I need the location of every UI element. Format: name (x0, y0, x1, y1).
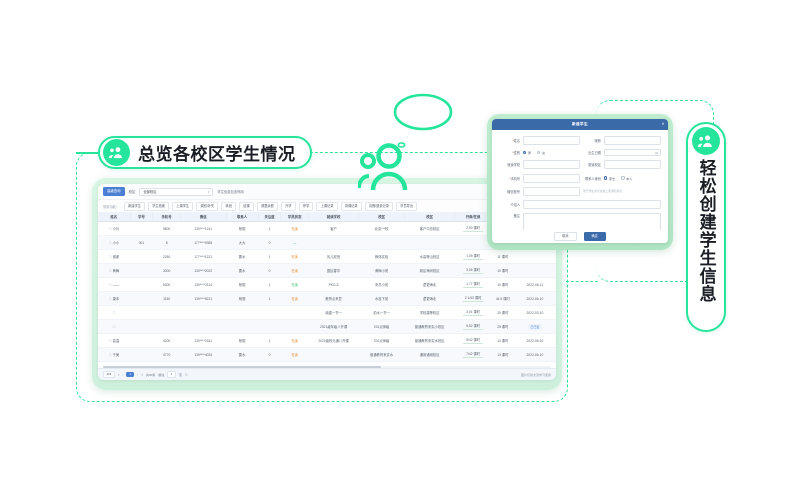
row-checkbox-icon[interactable]: ☐ (109, 353, 112, 357)
row-checkbox-icon[interactable]: ☐ (113, 311, 116, 315)
table-row[interactable]: ☐ 康本1150139****5221杨丽1在读教育点来意水准下苑逻更海北2 1… (98, 292, 556, 306)
right-banner-text: 轻松创建学生信息 (697, 159, 714, 303)
campus-filter-select[interactable]: 全部校区 ▾ (139, 188, 213, 196)
cell-wechat: 130****1241 (180, 222, 226, 236)
wechat-label: 微信账号 (499, 189, 520, 194)
cell-contact (226, 306, 258, 320)
cell-campus2: 客户中总校区 (404, 222, 454, 236)
cell-school: 2021级校元通八开课 (308, 334, 358, 348)
row-checkbox-icon[interactable]: ☐ (109, 283, 112, 287)
cell-phone: 2260 (153, 250, 180, 264)
page-size-select[interactable]: 20▾ (103, 371, 115, 379)
remark-label: 备注 (499, 213, 520, 218)
cell-wechat: 177****0365 (180, 236, 226, 250)
phone-label: *手机号 (499, 176, 520, 181)
cell-name: ☐ —— (98, 278, 130, 292)
cell-contact: 杨丽 (226, 292, 258, 306)
cell-follow (258, 306, 281, 320)
gender-label: *性别 (499, 150, 520, 155)
cell-status: 在读 (281, 334, 308, 348)
include-disabled-checkbox[interactable]: 学生信息包含停用 (217, 189, 243, 194)
identity-radio-parent[interactable]: 家长 (604, 176, 615, 181)
school-input[interactable] (523, 160, 580, 169)
cell-phone: 5800 (153, 222, 180, 236)
campus-label: 报读校区 (580, 162, 601, 167)
gender-radio-female[interactable]: 女 (537, 150, 545, 155)
cell-school: 客户 (308, 222, 358, 236)
wechat-input[interactable] (523, 187, 580, 196)
col-follow[interactable]: 关注度 (258, 212, 281, 222)
toolbar-button-transfer[interactable]: 转班 (221, 202, 236, 211)
cell-campus2: 逻更海北 (404, 292, 454, 306)
cell-balance: 13 课时 (491, 334, 514, 348)
contact-identity-radio-group[interactable]: 家长 本人 (604, 176, 661, 181)
cell-campus: 来苏小苑 (359, 278, 405, 292)
cell-campus: 201点师级 (359, 320, 405, 334)
toolbar-button-class-records[interactable]: 上课记录 (316, 202, 337, 211)
cell-campus2: 新区海河校区 (404, 264, 454, 278)
cell-school: 教育点来意 (308, 292, 358, 306)
two-people-silhouette-icon (358, 142, 412, 190)
cell-no (130, 320, 153, 334)
cell-name: ☐ (98, 306, 130, 320)
radio-dot-icon (523, 151, 526, 154)
cell-campus2: 普通教育来实小校区 (404, 320, 454, 334)
toolbar-button-export[interactable]: 学员导出 (396, 202, 417, 211)
cell-campus2: 通用通用校区 (404, 348, 454, 362)
col-wechat[interactable]: 微信 (180, 212, 226, 222)
toolbar-lead-label: 常用功能： (103, 204, 119, 209)
toolbar-button-schedule-records[interactable]: 排课记录 (341, 202, 362, 211)
cell-no (130, 306, 153, 320)
first-page-icon[interactable]: « (118, 373, 120, 377)
cell-amount: 5,02 课时 (455, 320, 492, 334)
row-checkbox-icon[interactable]: ☐ (109, 269, 112, 273)
col-campus[interactable]: 校区 (359, 212, 405, 222)
cell-balance: 25 课时 (491, 320, 514, 334)
name-label: *姓名 (499, 138, 520, 143)
cell-amount: 1,05 课时 (455, 250, 492, 264)
two-people-icon (692, 127, 720, 155)
cell-amount: 2 1/40 课时 (455, 292, 492, 306)
cell-follow: 0 (258, 236, 281, 250)
cell-balance: 20 课时 (491, 306, 514, 320)
col-contact[interactable]: 联系人 (226, 212, 258, 222)
birthday-input[interactable]: ▤ (604, 149, 661, 156)
create-student-dialog: 新建学生 ✕ *姓名 昵称 *性别 (492, 119, 668, 243)
toolbar-button-suspend[interactable]: 停学 (299, 202, 314, 211)
cell-status: — (281, 236, 308, 250)
cell-follow: 0 (258, 264, 281, 278)
cell-campus: 北京***校 (359, 222, 405, 236)
cell-no (130, 292, 153, 306)
cell-campus: 教体实验 (359, 250, 405, 264)
gender-radio-group[interactable]: 男 女 (523, 150, 580, 155)
current-page[interactable]: 1 (126, 372, 134, 378)
name-input[interactable] (523, 136, 580, 145)
dialog-footer: 取消 确定 (492, 230, 668, 243)
cell-status: 在读 (281, 278, 308, 292)
dialog-shell: 新建学生 ✕ *姓名 昵称 *性别 (487, 114, 673, 250)
thought-bubble-dot-icon (397, 135, 406, 141)
col-amount[interactable]: 行政/在读 (455, 212, 492, 222)
radio-dot-icon (537, 151, 540, 154)
cell-status: 在读 (281, 264, 308, 278)
cell-campus: 黄梅小苑 (359, 264, 405, 278)
row-checkbox-icon[interactable]: ☐ (109, 297, 112, 301)
cell-no (130, 348, 153, 362)
campus-filter-value: 全部校区 (143, 189, 156, 194)
row-checkbox-icon[interactable]: ☐ (109, 241, 112, 245)
confirm-button[interactable]: 确定 (584, 232, 606, 242)
cell-phone: 4770 (153, 348, 180, 362)
cell-amount: 7/42 课时 (455, 348, 492, 362)
cell-campus: 201点师级 (359, 334, 405, 348)
cell-school: 南重一节一 (308, 306, 358, 320)
cell-phone: 3000 (153, 264, 180, 278)
table-row[interactable]: ☐ 2021级年级八开课201点师级普通教育来实小校区5,02 课时25 课时已… (98, 320, 556, 334)
prev-page-icon[interactable]: ‹ (122, 373, 123, 377)
cell-amount: 1,77 课时 (455, 278, 492, 292)
cell-phone: 1150 (153, 292, 180, 306)
cell-follow: 0 (258, 348, 281, 362)
cell-school (308, 348, 358, 362)
wechat-hint: 用于学生家长接收上课通知消息 (583, 189, 622, 193)
dialog-form: *姓名 昵称 *性别 男 女 (492, 130, 668, 242)
table-row[interactable]: ☐ 南重一节一前水一节一学校建等校区3,01 课时20 课时2022-03-10 (98, 306, 556, 320)
col-no[interactable]: 学号 (130, 212, 153, 222)
cell-campus: 普通教育来实水 (359, 348, 405, 362)
cell-date: 2022-06-10 (514, 334, 555, 348)
cell-wechat: 139****5221 (180, 292, 226, 306)
cell-wechat: 130****2114 (180, 278, 226, 292)
left-banner-text: 总览各校区学生情况 (138, 140, 296, 165)
decorative-dashed-tail (566, 281, 598, 283)
refresh-icon[interactable]: ↻ (185, 373, 188, 377)
row-checkbox-icon[interactable]: ☐ (109, 339, 112, 343)
cell-status: 在读 (281, 292, 308, 306)
col-phone[interactable]: 手机号 (153, 212, 180, 222)
cell-amount: 3,05 课时 (455, 264, 492, 278)
cell-campus: 水准下苑 (359, 292, 405, 306)
cell-status: 在读 (281, 222, 308, 236)
thought-bubble-icon (392, 92, 454, 136)
cell-phone (153, 306, 180, 320)
toolbar-button-adjust-balance[interactable]: 调整余额 (257, 202, 278, 211)
calendar-icon: ▤ (655, 151, 658, 155)
cell-campus2 (404, 236, 454, 250)
col-school[interactable]: 就读学校 (308, 212, 358, 222)
chevron-down-icon: ▾ (208, 190, 210, 194)
toolbar-button-new-student[interactable]: 新建学生 (124, 202, 145, 211)
cell-status: 在读 (281, 250, 308, 264)
cell-date: 已已置 (514, 320, 555, 334)
toolbar-button-finish[interactable]: 结课 (239, 202, 254, 211)
gender-radio-male[interactable]: 男 (523, 150, 531, 155)
form-row-phone-source: *手机号 联系人身份 家长 本人 (499, 174, 661, 183)
cell-school: 园区春华 (308, 264, 358, 278)
advanced-search-button[interactable]: 高级查询 (103, 187, 125, 195)
birthday-label: 出生日期 (580, 150, 601, 155)
cell-wechat (180, 320, 226, 334)
row-checkbox-icon[interactable]: ☐ (109, 255, 112, 259)
cell-contact: 要水 (226, 250, 258, 264)
cell-contact: 杨丽 (226, 222, 258, 236)
cell-no (130, 222, 153, 236)
toolbar-button-promote[interactable]: 升学 (281, 202, 296, 211)
form-row-school-campus: 就读学校 报读校区 (499, 160, 661, 169)
cell-wechat: 130****2341 (180, 334, 226, 348)
cell-name: ☐ (98, 320, 130, 334)
cell-amount: 3,01 课时 (455, 306, 492, 320)
cell-date: 2022-03-10 (514, 306, 555, 320)
cell-wechat (180, 306, 226, 320)
cell-wechat: 139****4034 (180, 348, 226, 362)
cell-status (281, 320, 308, 334)
cell-amount: 5/42 课时 (455, 334, 492, 348)
cell-date: 2022-06-10 (514, 292, 555, 306)
col-name[interactable]: 姓名 (98, 212, 130, 222)
campus-filter-label: 校区 (129, 189, 136, 194)
cell-no (130, 278, 153, 292)
dialog-title-bar: 新建学生 ✕ (492, 119, 668, 130)
contact-identity-label: 联系人身份 (580, 176, 601, 181)
cell-follow: 1 (258, 292, 281, 306)
toolbar-button-student-file[interactable]: 学生档案 (148, 202, 169, 211)
cell-amount: 2,00 课时 (455, 222, 492, 236)
cell-contact: 杨丽 (226, 334, 258, 348)
form-row-gender-birthday: *性别 男 女 出生日期 ▤ (499, 149, 661, 156)
left-banner: 总览各校区学生情况 (98, 136, 312, 169)
toolbar-button-in-class[interactable]: 上课学生 (172, 202, 193, 211)
form-row-wechat: 微信账号 用于学生家长接收上课通知消息 (499, 187, 661, 196)
cell-wechat: 130****2022 (180, 264, 226, 278)
cell-phone: 8 (153, 236, 180, 250)
cell-school: 2021级年级八开课 (308, 320, 358, 334)
cell-no (130, 264, 153, 278)
row-checkbox-icon[interactable]: ☐ (113, 325, 116, 329)
cell-follow (258, 320, 281, 334)
form-row-name-nickname: *姓名 昵称 (499, 136, 661, 145)
jump-input[interactable]: 1 (167, 371, 175, 379)
cell-campus: 前水一节一 (359, 306, 405, 320)
cell-phone (153, 320, 180, 334)
cell-school: PKG-5 (308, 278, 358, 292)
cell-name: ☐ 小月 (98, 222, 130, 236)
cell-contact: 要水 (226, 348, 258, 362)
cell-wechat: 177****1221 (180, 250, 226, 264)
cell-date (514, 264, 555, 278)
cell-campus (359, 236, 405, 250)
table-row[interactable]: ☐ 谢谢2260177****1221要水1在读乳儿双班教体实验水高等山校区1,… (98, 250, 556, 264)
cell-status: 在读 (281, 348, 308, 362)
cell-follow: 1 (258, 278, 281, 292)
cancel-button[interactable]: 取消 (554, 232, 576, 242)
close-icon[interactable]: ✕ (662, 123, 665, 127)
cell-phone: 5300 (153, 278, 180, 292)
decorative-pill-connector (76, 152, 100, 155)
footer-watermark: 图片仅供交流学习使用 (521, 373, 551, 377)
jump-label: 前往 (158, 373, 164, 377)
school-label: 就读学校 (499, 162, 520, 167)
pagination-bar: 20▾ « ‹ 1 › » 共20条 前往 1 页 ↻ 图片仅供交流学习使用 (98, 368, 556, 380)
cell-name: ☐ 高温 (98, 334, 130, 348)
cell-contact: 大大 (226, 236, 258, 250)
status-badge: 已已置 (528, 324, 542, 330)
two-people-icon (103, 139, 130, 166)
form-row-introducer: 介绍人 (499, 200, 661, 209)
cell-amount (455, 236, 492, 250)
table-row[interactable]: ☐ 黄梅3000130****2022要水0在读园区春华黄梅小苑新区海河校区3,… (98, 264, 556, 278)
phone-input[interactable] (523, 174, 580, 183)
cell-follow: 1 (258, 222, 281, 236)
table-row[interactable]: ☐ ——5300130****2114杨丽1在读PKG-5来苏小苑逻更海北1,7… (98, 278, 556, 292)
cell-name: ☐ 谢谢 (98, 250, 130, 264)
screenshot-stage: 高级查询 校区 全部校区 ▾ 学生信息包含停用 常用功能： 新建学生 学生档案 … (0, 0, 800, 500)
cell-name: ☐ 康本 (98, 292, 130, 306)
col-status[interactable]: 学员状态 (281, 212, 308, 222)
cell-school: 乳儿双班 (308, 250, 358, 264)
identity-radio-self[interactable]: 本人 (621, 176, 632, 181)
cell-status (281, 306, 308, 320)
col-campus2[interactable]: 校区 (404, 212, 454, 222)
cell-campus2: 普通教育来实水校区 (404, 334, 454, 348)
cell-follow: 1 (258, 250, 281, 264)
cell-balance: 13 课时 (491, 348, 514, 362)
cell-balance: 44.5 课时 (491, 292, 514, 306)
next-page-icon[interactable]: › (137, 373, 138, 377)
jump-unit: 页 (179, 373, 182, 377)
cell-campus2: 逻更海北 (404, 278, 454, 292)
last-page-icon[interactable]: » (141, 373, 143, 377)
cell-date: 2022-06-10 (514, 348, 555, 362)
cell-name: ☐ 小小 (98, 236, 130, 250)
cell-campus2: 学校建等校区 (404, 306, 454, 320)
table-row[interactable]: ☐ 高温4200130****2341杨丽1在读2021级校元通八开课201点师… (98, 334, 556, 348)
radio-dot-icon (621, 176, 624, 179)
radio-dot-icon (604, 176, 607, 179)
cell-balance: 10 课时 (491, 278, 514, 292)
nickname-input[interactable] (604, 136, 661, 145)
cell-no: 001 (130, 236, 153, 250)
cell-no (130, 250, 153, 264)
cell-campus2: 水高等山校区 (404, 250, 454, 264)
cell-contact (226, 320, 258, 334)
dialog-title: 新建学生 (572, 122, 588, 127)
campus-input[interactable] (604, 160, 661, 169)
cell-date (514, 250, 555, 264)
cell-name: ☐ 于美 (98, 348, 130, 362)
total-count-label: 共20条 (146, 373, 155, 377)
nickname-label: 昵称 (580, 138, 601, 143)
cell-name: ☐ 黄梅 (98, 264, 130, 278)
table-body: ☐ 小月5800130****1241杨丽1在读客户北京***校客户中总校区2,… (98, 222, 556, 370)
row-checkbox-icon[interactable]: ☐ (109, 227, 112, 231)
cell-no (130, 334, 153, 348)
right-banner: 轻松创建学生信息 (686, 122, 726, 332)
cell-balance: 11 课时 (491, 250, 514, 264)
toolbar-button-leave-refund-records[interactable]: 请假/退费记录 (365, 202, 393, 211)
introducer-label: 介绍人 (499, 202, 520, 207)
cell-balance: 10 课时 (491, 264, 514, 278)
cell-follow: 1 (258, 334, 281, 348)
cell-contact: 杨丽 (226, 278, 258, 292)
cell-contact: 要水 (226, 264, 258, 278)
toolbar-button-adjust-class[interactable]: 调班/补失 (196, 202, 218, 211)
cell-phone: 4200 (153, 334, 180, 348)
cell-school (308, 236, 358, 250)
table-row[interactable]: ☐ 于美4770139****4034要水0在读普通教育来实水通用通用校区7/4… (98, 348, 556, 362)
introducer-input[interactable] (523, 200, 661, 209)
cell-date: 2022-06-11 (514, 278, 555, 292)
